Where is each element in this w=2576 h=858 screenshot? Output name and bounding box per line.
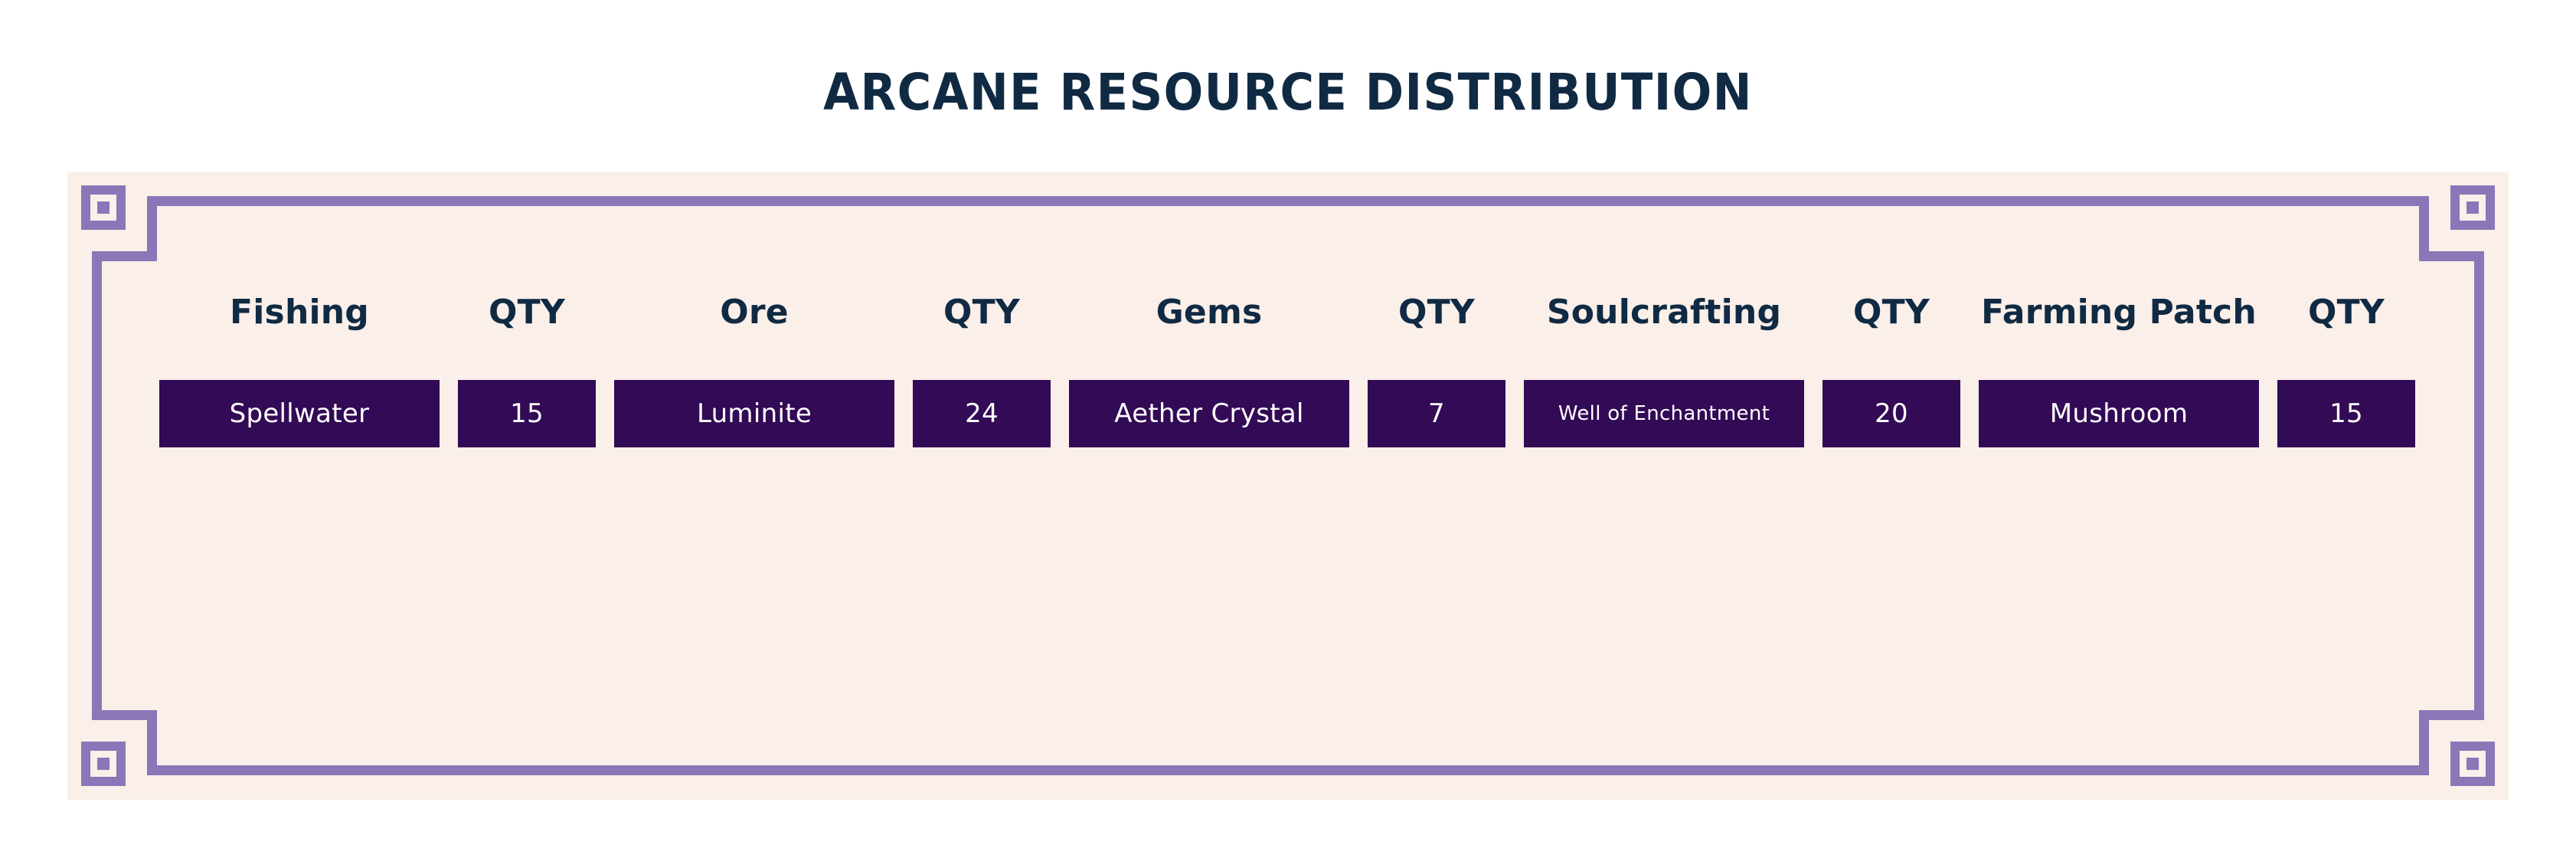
resource-table: Fishing QTY Ore QTY Gems QTY Soulcraftin…	[67, 172, 2509, 800]
column-header-farming-patch-qty: QTY	[2277, 293, 2415, 332]
column-header-soulcrafting: Soulcrafting	[1524, 293, 1804, 332]
column-header-ore: Ore	[614, 293, 894, 332]
column-header-ore-qty: QTY	[913, 293, 1051, 332]
cell-fishing-item: Spellwater	[159, 380, 440, 447]
cell-farming-patch-item: Mushroom	[1979, 380, 2259, 447]
column-header-farming-patch: Farming Patch	[1979, 293, 2259, 332]
column-header-gems-qty: QTY	[1368, 293, 1505, 332]
column-header-fishing-qty: QTY	[458, 293, 596, 332]
table-data-row: Spellwater 15 Luminite 24 Aether Crystal…	[159, 380, 2417, 447]
cell-gems-item: Aether Crystal	[1069, 380, 1349, 447]
cell-ore-item: Luminite	[614, 380, 894, 447]
cell-fishing-qty: 15	[458, 380, 596, 447]
cell-soulcrafting-item: Well of Enchantment	[1524, 380, 1804, 447]
table-header-row: Fishing QTY Ore QTY Gems QTY Soulcraftin…	[159, 288, 2417, 336]
column-header-soulcrafting-qty: QTY	[1822, 293, 1960, 332]
column-header-fishing: Fishing	[159, 293, 440, 332]
column-header-gems: Gems	[1069, 293, 1349, 332]
page-title: ARCANE RESOURCE DISTRIBUTION	[103, 63, 2473, 122]
cell-ore-qty: 24	[913, 380, 1051, 447]
decorative-panel: Fishing QTY Ore QTY Gems QTY Soulcraftin…	[67, 172, 2509, 800]
cell-soulcrafting-qty: 20	[1822, 380, 1960, 447]
cell-gems-qty: 7	[1368, 380, 1505, 447]
cell-farming-patch-qty: 15	[2277, 380, 2415, 447]
